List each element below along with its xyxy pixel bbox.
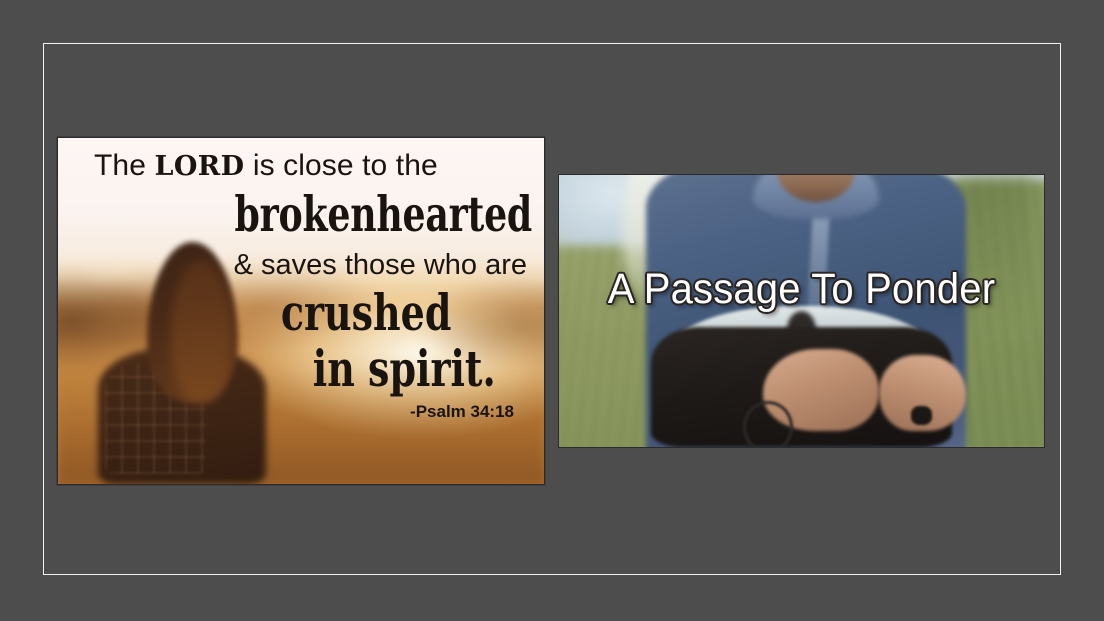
tall-grass-right-back: [957, 175, 1035, 338]
scripture-line-1: The LORD is close to the: [94, 151, 438, 181]
scripture-line-2: brokenhearted: [234, 190, 532, 239]
scripture-line-1-suffix: is close to the: [244, 149, 437, 182]
scripture-reference: -Psalm 34:18: [410, 403, 514, 420]
scripture-text-block: The LORD is close to the brokenhearted &…: [58, 138, 544, 484]
scripture-line-3: & saves those who are: [234, 251, 527, 280]
passage-to-ponder-image[interactable]: A Passage To Ponder: [558, 174, 1045, 448]
scripture-line-5: in spirit.: [313, 344, 496, 394]
finger-ring: [911, 406, 932, 425]
scripture-line-1-lord: LORD: [154, 151, 244, 182]
slide-canvas: The LORD is close to the brokenhearted &…: [0, 0, 1104, 621]
passage-to-ponder-title: A Passage To Ponder: [576, 268, 1027, 311]
wrist-bracelet: [743, 401, 793, 448]
scripture-line-4: crushed: [280, 288, 451, 338]
scripture-line-1-prefix: The: [94, 149, 154, 182]
scripture-quote-image[interactable]: The LORD is close to the brokenhearted &…: [57, 137, 545, 485]
